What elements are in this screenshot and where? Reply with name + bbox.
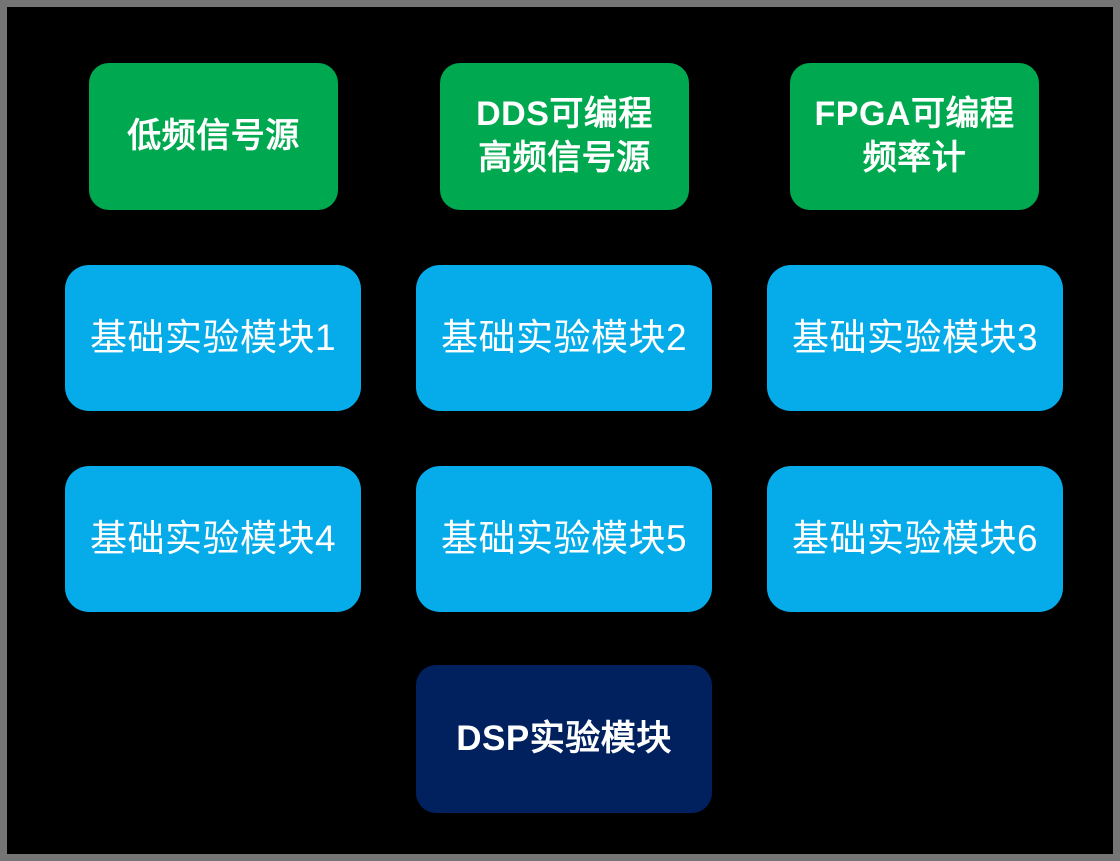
block-dsp-experiment-module[interactable]: DSP实验模块 [416, 665, 712, 813]
block-label: DSP实验模块 [416, 717, 712, 762]
block-basic-experiment-module-5[interactable]: 基础实验模块5 [416, 466, 712, 612]
block-fpga-frequency-counter[interactable]: FPGA可编程 频率计 [790, 63, 1039, 210]
block-label: 基础实验模块3 [767, 314, 1063, 361]
block-signal-source-low-frequency[interactable]: 低频信号源 [89, 63, 338, 210]
block-label: FPGA可编程 频率计 [790, 93, 1039, 180]
block-label: 基础实验模块4 [65, 515, 361, 562]
block-signal-source-dds-high-frequency[interactable]: DDS可编程 高频信号源 [440, 63, 689, 210]
block-basic-experiment-module-2[interactable]: 基础实验模块2 [416, 265, 712, 411]
block-basic-experiment-module-6[interactable]: 基础实验模块6 [767, 466, 1063, 612]
block-basic-experiment-module-3[interactable]: 基础实验模块3 [767, 265, 1063, 411]
block-label: 基础实验模块6 [767, 515, 1063, 562]
block-label: DDS可编程 高频信号源 [440, 93, 689, 180]
diagram-canvas: 低频信号源 DDS可编程 高频信号源 FPGA可编程 频率计 基础实验模块1 基… [0, 0, 1120, 861]
block-basic-experiment-module-4[interactable]: 基础实验模块4 [65, 466, 361, 612]
block-label: 基础实验模块2 [416, 314, 712, 361]
block-label: 基础实验模块5 [416, 515, 712, 562]
block-label: 基础实验模块1 [65, 314, 361, 361]
block-basic-experiment-module-1[interactable]: 基础实验模块1 [65, 265, 361, 411]
block-label: 低频信号源 [89, 115, 338, 159]
